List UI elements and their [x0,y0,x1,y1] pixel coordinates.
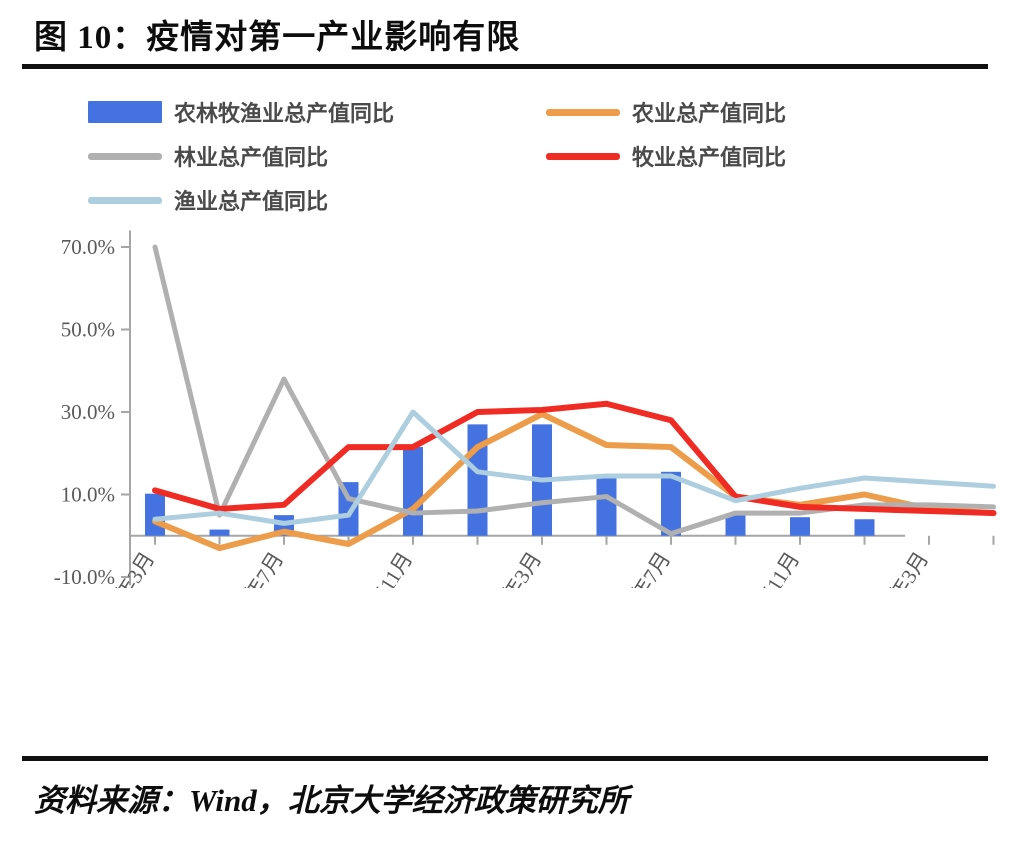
x-axis-tick-text: 2004年3月 [476,548,546,588]
title-divider [22,64,988,69]
source-divider [22,756,988,761]
legend-swatch-line-icon [88,153,162,160]
y-axis-tick-label: 30.0% [61,400,115,424]
chart-bar [855,519,875,536]
legend-label: 渔业总产值同比 [174,184,328,216]
chart-canvas: -10.0%10.0%30.0%50.0%70.0%2003年3月2003年7月… [0,228,1010,588]
figure-page: 图 10：疫情对第一产业影响有限 农林牧渔业总产值同比 农业总产值同比 林业总产… [0,0,1010,852]
x-axis-tick-text: 2004年11月 [729,548,805,588]
y-axis-tick-label: 70.0% [61,235,115,259]
x-axis-tick-text: 2005年7月 [992,548,1010,588]
legend-item-0: 农林牧渔业总产值同比 [88,96,394,128]
chart-bar [403,447,423,536]
x-axis-tick-text: 2003年11月 [342,548,418,588]
chart-bar [597,476,617,536]
legend-item-3: 牧业总产值同比 [546,140,786,172]
x-axis-tick-label: 2004年3月 [476,548,546,588]
x-axis-tick-label: 2004年7月 [605,548,675,588]
legend-label: 牧业总产值同比 [632,140,786,172]
chart-bar [790,517,810,536]
legend-swatch-line-icon [546,109,620,116]
x-axis-tick-text: 2004年7月 [605,548,675,588]
legend-item-1: 农业总产值同比 [546,96,786,128]
x-axis-tick-label: 2003年11月 [342,548,418,588]
chart-plot-area: -10.0%10.0%30.0%50.0%70.0%2003年3月2003年7月… [0,228,1010,588]
source-note: 资料来源：Wind，北京大学经济政策研究所 [34,775,984,820]
legend-label: 林业总产值同比 [174,140,328,172]
legend-item-4: 渔业总产值同比 [88,184,328,216]
legend-swatch-bar-icon [88,101,162,123]
legend-item-2: 林业总产值同比 [88,140,328,172]
chart-bar [661,472,681,536]
figure-header: 图 10：疫情对第一产业影响有限 [0,0,1010,69]
x-axis-tick-label: 2005年7月 [992,548,1010,588]
chart-bar [145,494,165,536]
page-title: 图 10：疫情对第一产业影响有限 [0,0,1010,64]
x-axis-tick-text: 2003年7月 [218,548,288,588]
y-axis-tick-label: -10.0% [54,565,115,588]
legend-swatch-line-icon [88,197,162,204]
x-axis-tick-label: 2003年7月 [218,548,288,588]
chart-bar [726,515,746,536]
y-axis-tick-label: 50.0% [61,318,115,342]
chart-line-series [155,247,994,534]
x-axis-tick-label: 2004年11月 [729,548,805,588]
chart-bar [210,530,230,536]
legend-swatch-line-icon [546,153,620,160]
legend-label: 农林牧渔业总产值同比 [174,96,394,128]
legend-label: 农业总产值同比 [632,96,786,128]
x-axis-tick-text: 2005年3月 [863,548,933,588]
y-axis-tick-label: 10.0% [61,483,115,507]
chart-legend: 农林牧渔业总产值同比 农业总产值同比 林业总产值同比 牧业总产值同比 渔业总产值… [88,96,918,212]
x-axis-tick-label: 2005年3月 [863,548,933,588]
